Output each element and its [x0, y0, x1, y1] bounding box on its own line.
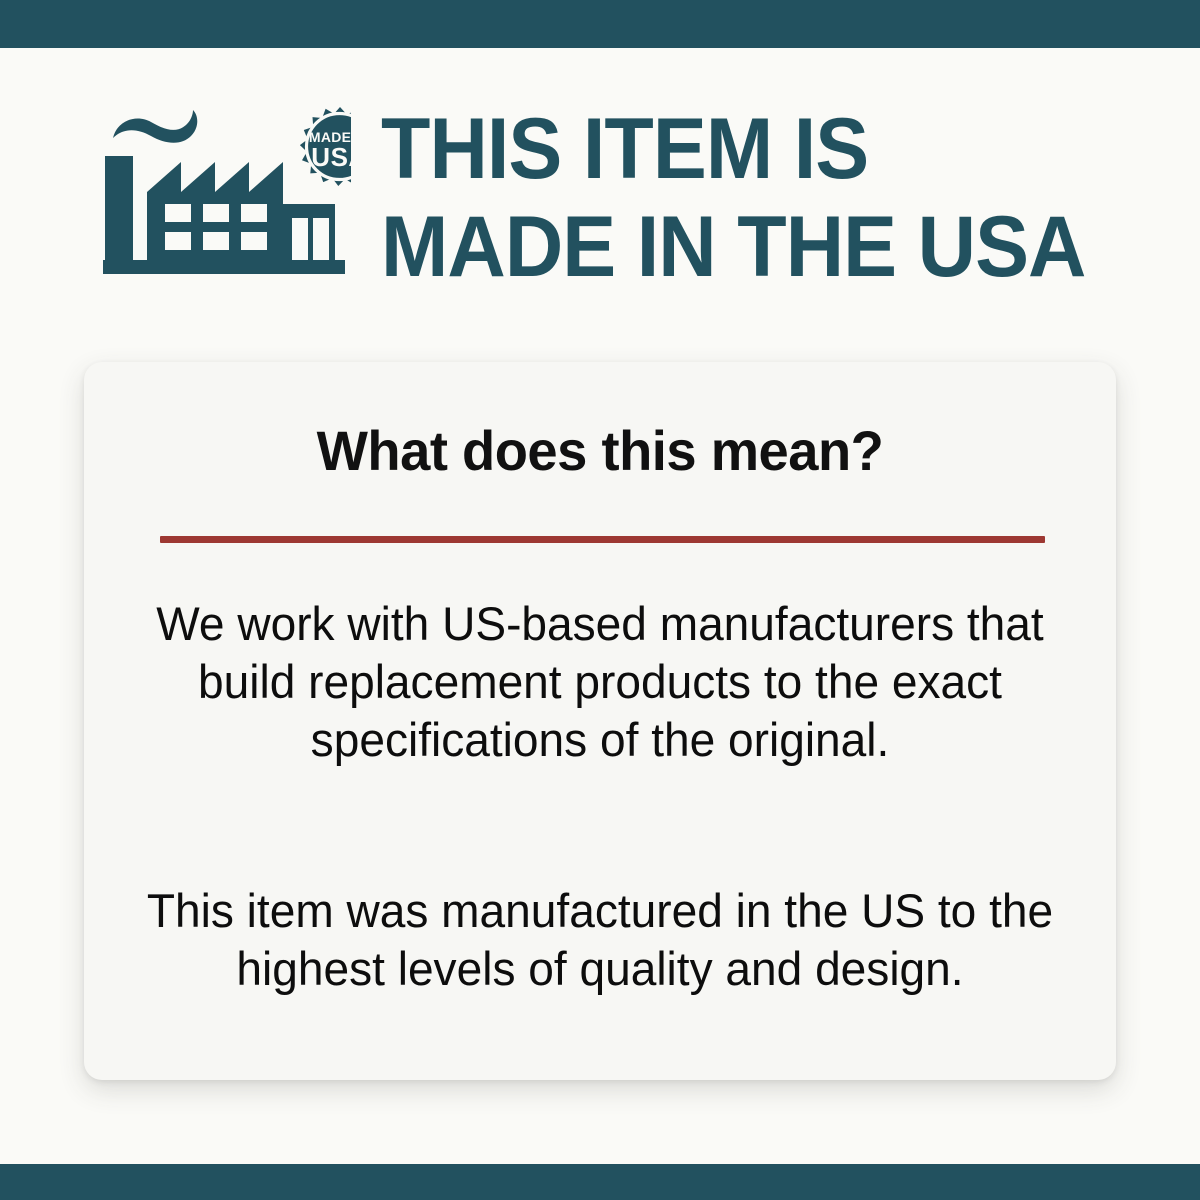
page-title: THIS ITEM IS MADE IN THE USA: [381, 106, 1181, 290]
made-in-usa-seal-icon: MADE IN USA: [296, 102, 351, 190]
made-in-usa-logo: MADE IN USA: [103, 100, 351, 280]
header: MADE IN USA THIS ITEM IS MADE IN THE USA: [0, 48, 1200, 308]
badge-line-2-text: USA: [311, 142, 351, 172]
top-accent-bar: [0, 0, 1200, 48]
smoke-icon: [113, 110, 197, 143]
card-paragraph-1: We work with US-based manufacturers that…: [130, 595, 1071, 769]
red-divider: [160, 536, 1045, 543]
info-card: What does this mean? We work with US-bas…: [84, 362, 1116, 1080]
card-heading: What does this mean?: [99, 420, 1100, 482]
card-paragraph-2: This item was manufactured in the US to …: [130, 882, 1071, 998]
bottom-accent-bar: [0, 1164, 1200, 1200]
title-line-1: THIS ITEM IS: [381, 106, 1133, 192]
chimney-icon: [105, 156, 133, 260]
title-line-2: MADE IN THE USA: [381, 204, 1133, 290]
factory-base-icon: [103, 260, 345, 274]
